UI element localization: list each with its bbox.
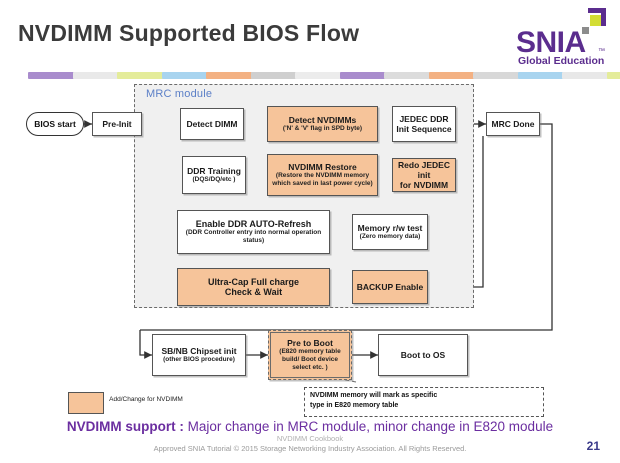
strip-segment <box>473 72 519 79</box>
node-pre-to-boot[interactable]: Pre to Boot (E820 memory table build/ Bo… <box>268 330 352 380</box>
node-enable-ddr-auto-refresh[interactable]: Enable DDR AUTO-Refresh (DDR Controller … <box>177 210 330 254</box>
footer-copyright: Approved SNIA Tutorial © 2015 Storage Ne… <box>0 444 620 453</box>
e820-callout: NVDIMM memory will mark as specific type… <box>304 387 544 417</box>
node-pre-init[interactable]: Pre-Init <box>92 112 142 136</box>
strip-segment <box>251 72 297 79</box>
strip-segment <box>518 72 564 79</box>
page-title: NVDIMM Supported BIOS Flow <box>18 20 359 47</box>
e820-callout-line1: NVDIMM memory will mark as specific <box>310 391 538 401</box>
strip-segment <box>562 72 608 79</box>
node-nvdimm-restore-label: NVDIMM Restore <box>288 162 356 172</box>
strip-segment <box>162 72 208 79</box>
slide: NVDIMM Supported BIOS Flow SNIA ™ Global… <box>0 0 620 463</box>
node-detect-nvdimms-label: Detect NVDIMMs <box>289 115 357 125</box>
strip-segment <box>340 72 386 79</box>
slide-tagline: NVDIMM support : Major change in MRC mod… <box>0 419 620 434</box>
svg-text:Global Education: Global Education <box>518 55 604 67</box>
strip-segment <box>607 72 620 79</box>
node-detect-nvdimms[interactable]: Detect NVDIMMs ('N' & 'V' flag in SPD by… <box>267 106 378 142</box>
strip-segment <box>28 72 74 79</box>
node-redo-jedec-line1: Redo JEDEC init <box>393 160 455 180</box>
color-strip <box>0 72 620 79</box>
node-boot-to-os[interactable]: Boot to OS <box>378 334 468 376</box>
node-nvdimm-restore-sub: (Restore the NVDIMM memory which saved i… <box>271 172 374 188</box>
node-redo-jedec-line2: for NVDIMM <box>400 180 448 190</box>
node-detect-nvdimms-sub: ('N' & 'V' flag in SPD byte) <box>283 125 362 133</box>
node-ddr-training-label: DDR Training <box>187 166 241 176</box>
node-boot-to-os-label: Boot to OS <box>401 350 445 360</box>
node-jedec-ddr-init[interactable]: JEDEC DDR Init Sequence <box>392 106 456 142</box>
node-nvdimm-restore[interactable]: NVDIMM Restore (Restore the NVDIMM memor… <box>267 154 378 196</box>
strip-segment <box>295 72 341 79</box>
strip-segment <box>117 72 163 79</box>
node-auto-refresh-label: Enable DDR AUTO-Refresh <box>196 219 312 229</box>
footer-cookbook: NVDIMM Cookbook <box>0 434 620 443</box>
node-pre-to-boot-sub: (E820 memory table build/ Boot device se… <box>273 348 347 372</box>
legend-label: Add/Change for NVDIMM <box>108 395 184 404</box>
node-memory-rw-test-label: Memory r/w test <box>358 223 423 233</box>
node-mrc-done-label: MRC Done <box>492 119 535 129</box>
node-sbnb-sub: (other BIOS procedure) <box>163 356 235 364</box>
legend-swatch <box>68 392 104 414</box>
mrc-module-label: MRC module <box>146 88 212 100</box>
e820-callout-line2: type in E820 memory table <box>310 401 538 411</box>
node-detect-dimm-label: Detect DIMM <box>186 119 237 129</box>
node-ddr-training[interactable]: DDR Training (DQS/DQ/etc ) <box>182 156 246 194</box>
page-number: 21 <box>587 439 600 453</box>
snia-logo: SNIA ™ Global Education <box>502 6 612 66</box>
node-mrc-done[interactable]: MRC Done <box>486 112 540 136</box>
node-sbnb-label: SB/NB Chipset init <box>161 346 236 356</box>
node-bios-start[interactable]: BIOS start <box>26 112 84 136</box>
strip-segment <box>429 72 475 79</box>
node-pre-to-boot-label: Pre to Boot <box>287 338 333 348</box>
node-sbnb-chipset-init[interactable]: SB/NB Chipset init (other BIOS procedure… <box>152 334 246 376</box>
node-jedec-ddr-line1: JEDEC DDR <box>399 114 448 124</box>
strip-segment <box>206 72 252 79</box>
node-ultracap-line1: Ultra-Cap Full charge <box>208 277 299 287</box>
node-ultracap-full-charge[interactable]: Ultra-Cap Full charge Check & Wait <box>177 268 330 306</box>
tagline-bold: NVDIMM support : <box>67 419 184 434</box>
node-redo-jedec-init[interactable]: Redo JEDEC init for NVDIMM <box>392 158 456 192</box>
node-bios-start-label: BIOS start <box>34 119 76 129</box>
node-memory-rw-test[interactable]: Memory r/w test (Zero memory data) <box>352 214 428 250</box>
strip-segment <box>73 72 119 79</box>
strip-segment <box>384 72 430 79</box>
node-memory-rw-test-sub: (Zero memory data) <box>360 233 421 241</box>
node-jedec-ddr-line2: Init Sequence <box>396 124 451 134</box>
tagline-rest: Major change in MRC module, minor change… <box>184 419 553 434</box>
node-ultracap-line2: Check & Wait <box>225 287 282 297</box>
node-backup-enable-label: BACKUP Enable <box>357 282 423 292</box>
node-pre-init-label: Pre-Init <box>102 119 131 129</box>
bios-flow-diagram: MRC module BIOS start Pre-Init Detect DI… <box>0 80 620 390</box>
node-ddr-training-sub: (DQS/DQ/etc ) <box>193 176 236 184</box>
svg-text:™: ™ <box>598 48 605 55</box>
node-auto-refresh-sub: (DDR Controller entry into normal operat… <box>182 229 325 245</box>
node-detect-dimm[interactable]: Detect DIMM <box>180 108 244 140</box>
node-backup-enable[interactable]: BACKUP Enable <box>352 270 428 304</box>
